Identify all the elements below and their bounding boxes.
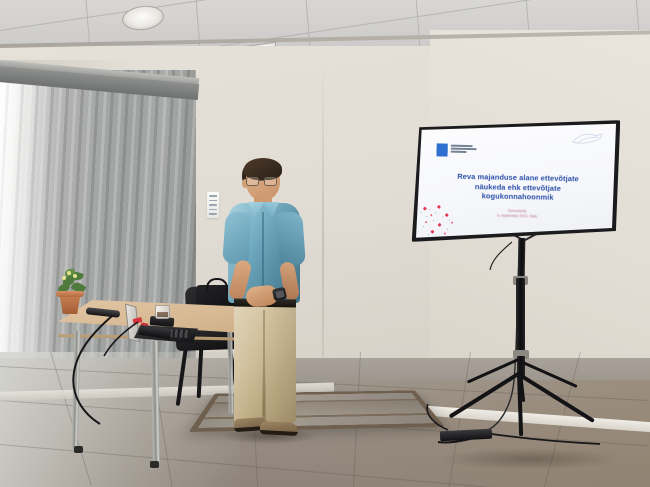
presenter (218, 160, 316, 450)
tripod-shadow (440, 448, 620, 470)
partner-logo (571, 130, 605, 147)
presentation-slide: Reva majanduse alane ettevõtjate näukeda… (415, 119, 617, 243)
slide-decoration (417, 203, 480, 240)
presentation-room-photo: Reva majanduse alane ettevõtjate näukeda… (0, 0, 650, 487)
tripod-leg-left (449, 371, 522, 418)
institution-logo (436, 143, 476, 157)
flat-screen-display[interactable]: Reva majanduse alane ettevõtjate näukeda… (412, 116, 621, 246)
window-daylight-glow (0, 70, 56, 385)
presenter-shoe-right (260, 421, 299, 436)
slide-title: Reva majanduse alane ettevõtjate näukeda… (430, 171, 607, 203)
coffee-cup (155, 305, 170, 319)
trousers-leg-gap (262, 360, 266, 423)
cup-liquid (157, 312, 168, 317)
plant-pot-rim (56, 291, 84, 297)
tripod-column-upper (518, 238, 526, 280)
shirt-sleeve-left (222, 211, 252, 265)
tripod-leg-right (520, 374, 595, 423)
logo-mark-icon (436, 143, 447, 156)
shirt-sleeve-right (276, 211, 306, 267)
tv-screen[interactable]: Reva majanduse alane ettevõtjate näukeda… (415, 119, 617, 243)
tripod-column-mid (516, 278, 525, 356)
desk-foot-left (74, 446, 83, 453)
glasses-icon (246, 177, 279, 186)
logo-wordmark (451, 144, 477, 154)
desk-foot-right (150, 461, 159, 468)
